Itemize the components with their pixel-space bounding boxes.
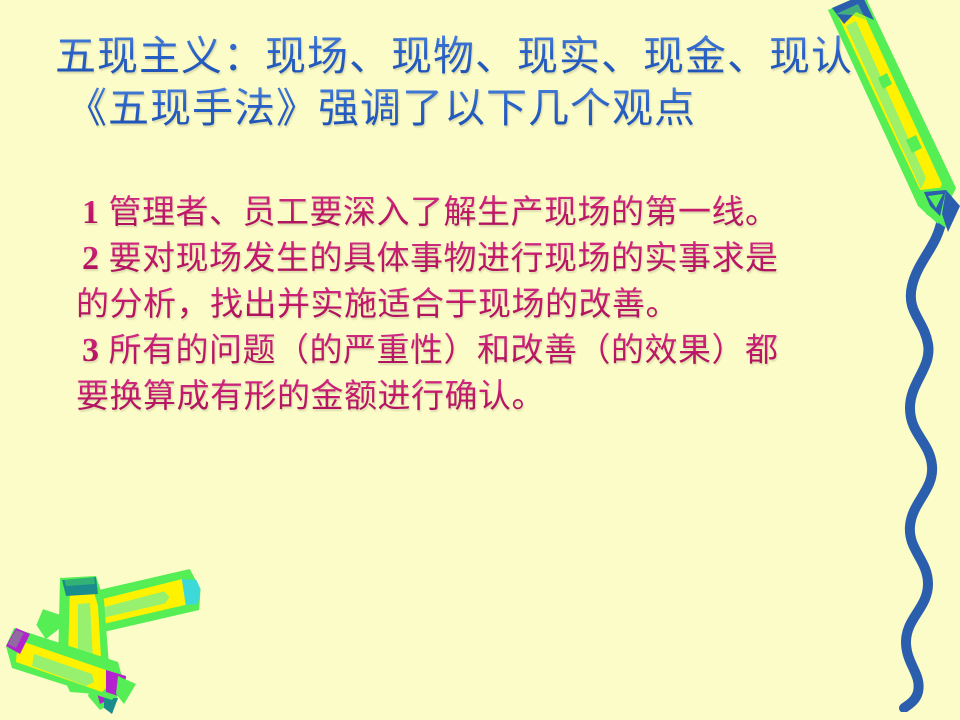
body-item-number-3: 3 <box>82 332 109 369</box>
slide-title: 五现主义：现场、现物、现实、现金、现认 《五现手法》强调了以下几个观点 <box>0 30 960 134</box>
slide-title-line-1: 五现主义：现场、现物、现实、现金、现认 <box>0 30 960 82</box>
body-item-text-2b: 的分析，找出并实施适合于现场的改善。 <box>76 287 679 323</box>
body-item-text-3b: 要换算成有形的金额进行确认。 <box>76 379 545 415</box>
body-item-text-2: 要对现场发生的具体事物进行现场的实事求是 <box>109 241 779 277</box>
body-list-item-1: 1管理者、员工要深入了解生产现场的第一线。 <box>0 190 960 236</box>
body-list-item-3-continued: 要换算成有形的金额进行确认。 <box>0 374 960 420</box>
body-item-number-1: 1 <box>82 194 109 231</box>
body-item-number-2: 2 <box>82 240 109 277</box>
body-list-item-3: 3所有的问题（的严重性）和改善（的效果）都 <box>0 328 960 374</box>
slide-body: 1管理者、员工要深入了解生产现场的第一线。 2要对现场发生的具体事物进行现场的实… <box>0 190 960 420</box>
body-item-text-3: 所有的问题（的严重性）和改善（的效果）都 <box>109 333 779 369</box>
body-list-item-2-continued: 的分析，找出并实施适合于现场的改善。 <box>0 282 960 328</box>
body-item-text-1: 管理者、员工要深入了解生产现场的第一线。 <box>109 195 779 231</box>
slide-canvas: 五现主义：现场、现物、现实、现金、现认 《五现手法》强调了以下几个观点 1管理者… <box>0 0 960 720</box>
crossed-pencils-icon <box>0 558 240 720</box>
slide-title-line-2: 《五现手法》强调了以下几个观点 <box>0 82 960 134</box>
body-list-item-2: 2要对现场发生的具体事物进行现场的实事求是 <box>0 236 960 282</box>
